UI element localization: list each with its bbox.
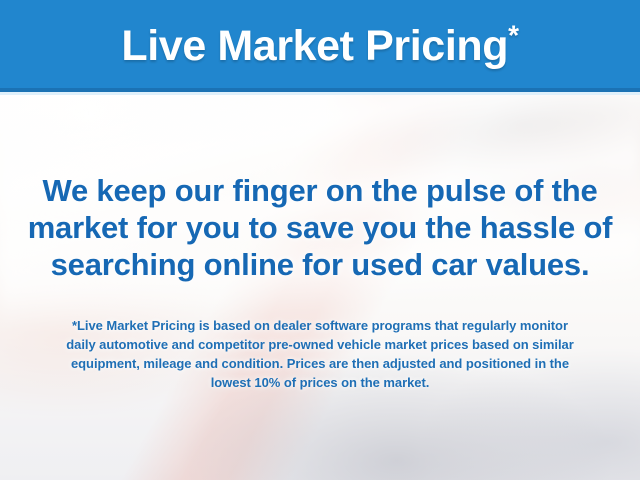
header-bar: Live Market Pricing* — [0, 0, 640, 92]
page-title: Live Market Pricing* — [121, 25, 518, 68]
headline-line-3: searching online for used car values. — [22, 246, 618, 283]
headline-line-2: market for you to save you the hassle of — [22, 209, 618, 246]
disclaimer-line-4: lowest 10% of prices on the market. — [26, 373, 614, 392]
header-underline-divider — [0, 92, 640, 95]
disclaimer-line-2: daily automotive and competitor pre-owne… — [26, 335, 614, 354]
page-title-text: Live Market Pricing — [121, 22, 508, 70]
title-asterisk-footnote-marker: * — [508, 19, 519, 50]
disclaimer-text: *Live Market Pricing is based on dealer … — [26, 316, 614, 392]
live-market-pricing-banner: Live Market Pricing* We keep our finger … — [0, 0, 640, 480]
disclaimer-line-1: *Live Market Pricing is based on dealer … — [26, 316, 614, 335]
disclaimer-line-3: equipment, mileage and condition. Prices… — [26, 354, 614, 373]
headline-line-1: We keep our finger on the pulse of the — [22, 172, 618, 209]
headline-text: We keep our finger on the pulse of the m… — [22, 172, 618, 283]
